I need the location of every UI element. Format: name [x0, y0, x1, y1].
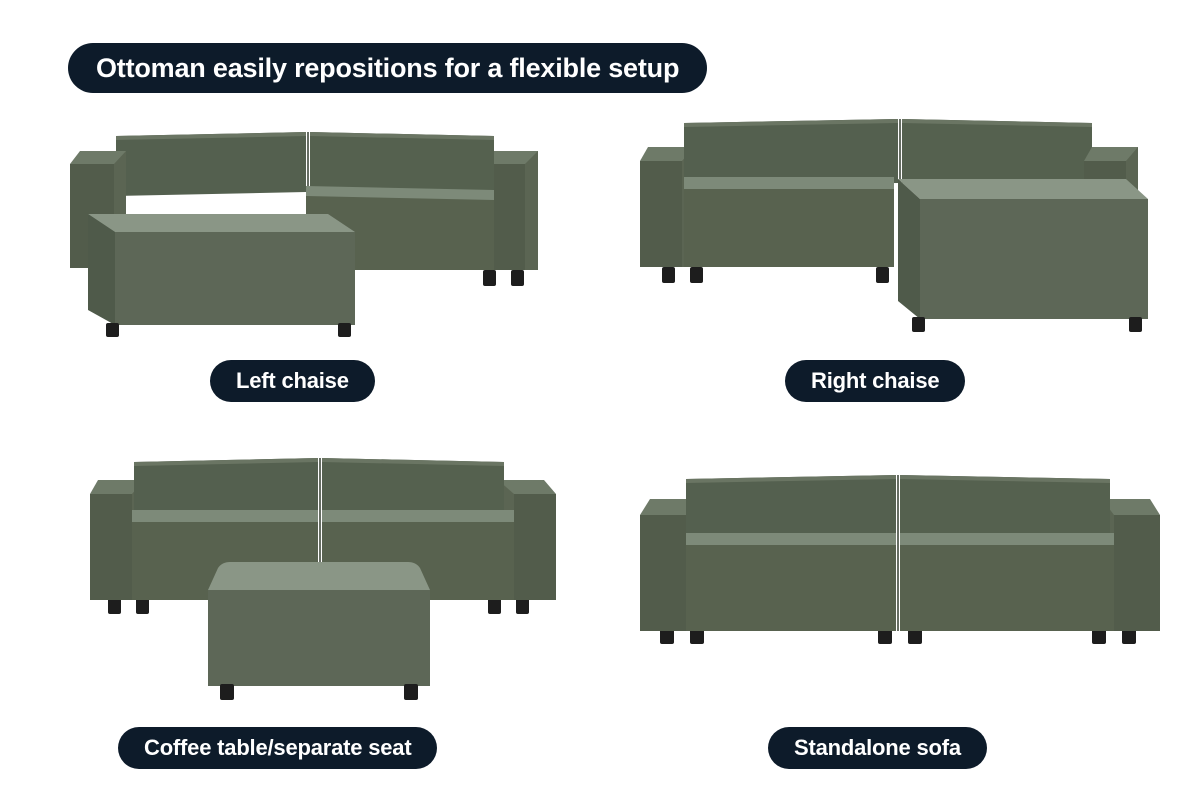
- config-illustration-right-chaise: [640, 105, 1150, 345]
- config-illustration-standalone: [640, 465, 1160, 655]
- page-title-text: Ottoman easily repositions for a flexibl…: [96, 53, 679, 84]
- sofa-left-chaise-icon: [70, 120, 570, 345]
- sofa-standalone-icon: [640, 465, 1160, 655]
- sofa-right-chaise-icon: [640, 105, 1150, 345]
- config-label-left-chaise: Left chaise: [210, 360, 375, 402]
- config-label-text: Coffee table/separate seat: [144, 735, 411, 761]
- config-label-text: Left chaise: [236, 368, 349, 394]
- config-label-standalone: Standalone sofa: [768, 727, 987, 769]
- config-label-text: Right chaise: [811, 368, 939, 394]
- config-illustration-coffee-table: [90, 450, 570, 705]
- page-title: Ottoman easily repositions for a flexibl…: [68, 43, 707, 93]
- config-illustration-left-chaise: [70, 120, 570, 345]
- config-label-right-chaise: Right chaise: [785, 360, 965, 402]
- config-label-coffee-table: Coffee table/separate seat: [118, 727, 437, 769]
- config-label-text: Standalone sofa: [794, 735, 961, 761]
- sofa-coffee-table-icon: [90, 450, 570, 705]
